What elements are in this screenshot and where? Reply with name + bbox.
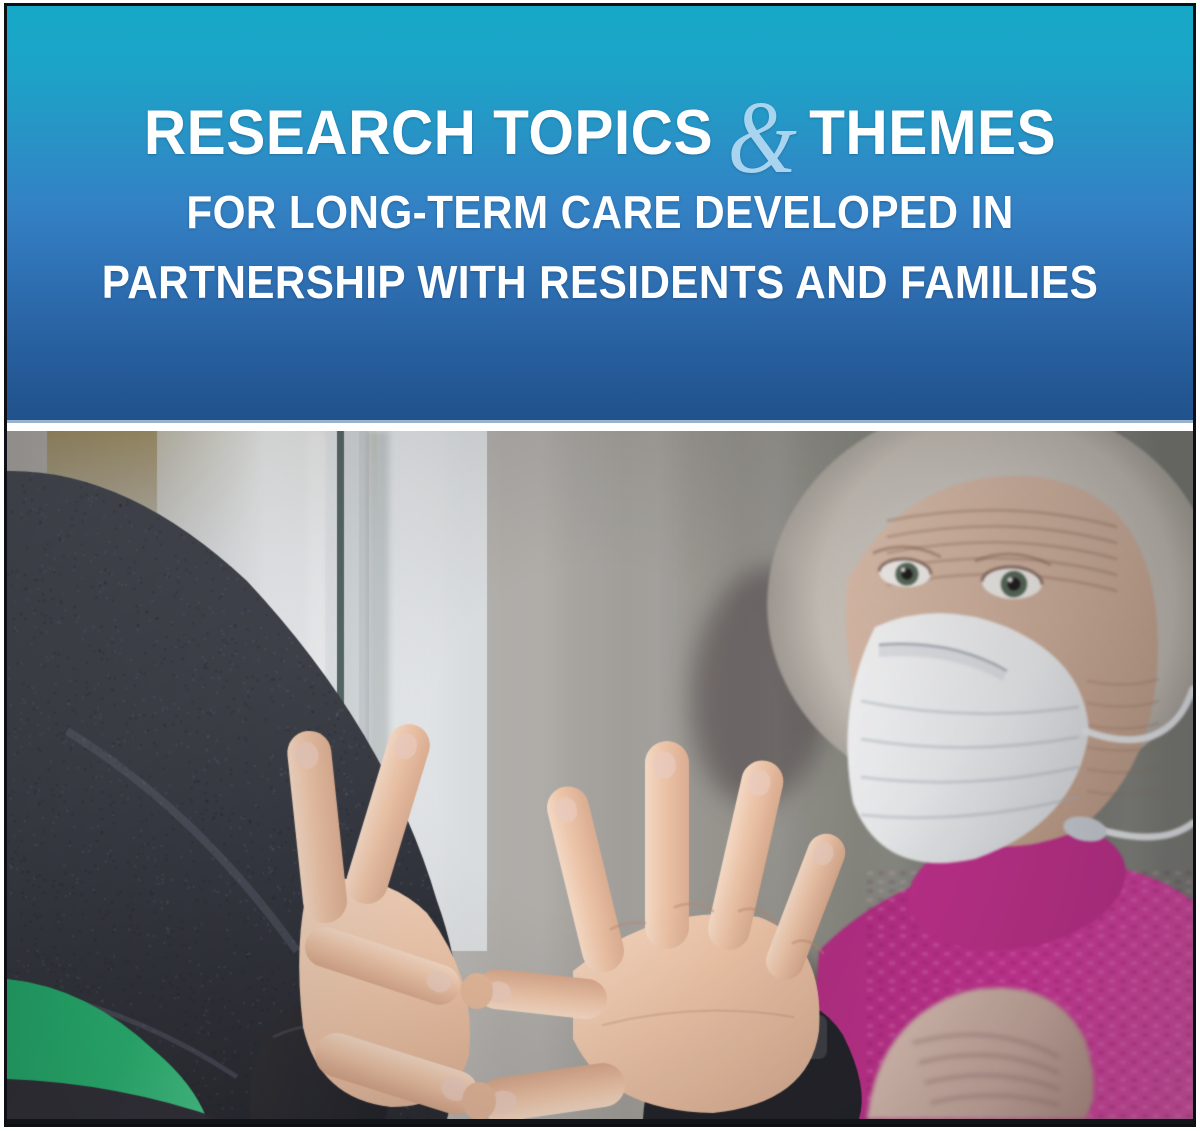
subtitle-line-1: FOR LONG-TERM CARE DEVELOPED IN: [54, 180, 1145, 245]
poster-title: RESEARCH TOPICS&THEMES: [49, 98, 1152, 168]
title-block: RESEARCH TOPICS&THEMES FOR LONG-TERM CAR…: [7, 98, 1193, 315]
photo-illustration: [7, 431, 1193, 1119]
poster-header-banner: RESEARCH TOPICS&THEMES FOR LONG-TERM CAR…: [7, 6, 1193, 423]
title-part-2: THEMES: [809, 98, 1056, 168]
title-part-1: RESEARCH TOPICS: [144, 98, 713, 168]
header-photo-divider: [7, 423, 1193, 431]
poster-photograph: A child in a dark hooded winter coat and…: [7, 431, 1193, 1124]
poster-frame: RESEARCH TOPICS&THEMES FOR LONG-TERM CAR…: [4, 3, 1196, 1127]
poster-subtitle: FOR LONG-TERM CARE DEVELOPED IN PARTNERS…: [7, 180, 1193, 315]
poster-root: RESEARCH TOPICS&THEMES FOR LONG-TERM CAR…: [0, 0, 1200, 1131]
subtitle-line-2: PARTNERSHIP WITH RESIDENTS AND FAMILIES: [54, 250, 1145, 315]
